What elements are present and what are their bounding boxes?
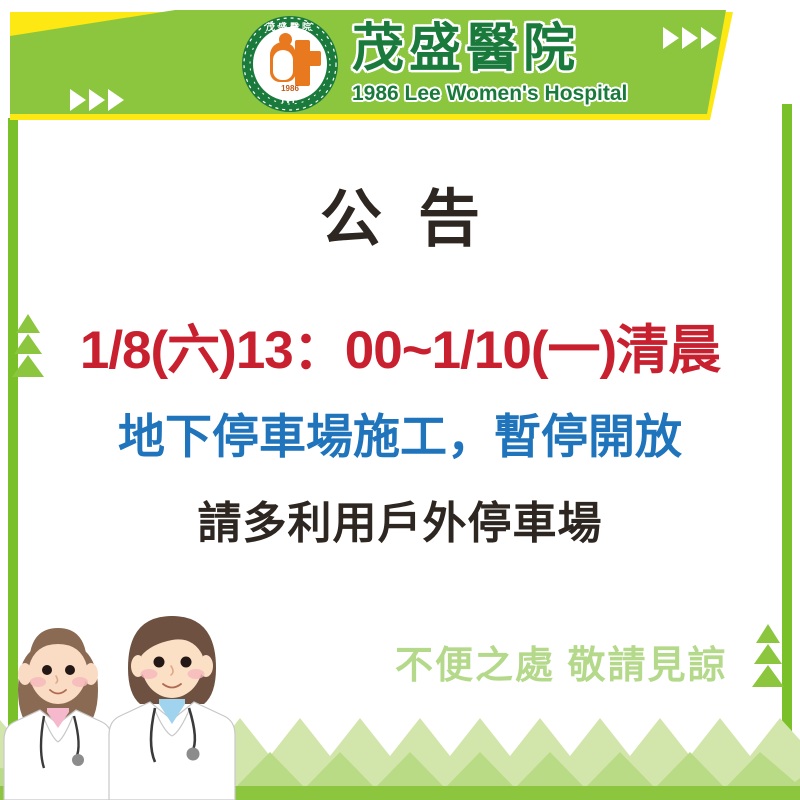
triangle-icon xyxy=(701,27,717,49)
tree-tier-icon xyxy=(756,624,780,643)
tree-icon-right xyxy=(748,622,788,694)
header-banner: 茂盛醫院 1986 IVF 茂盛醫院 1986 Lee Women's Hosp… xyxy=(0,0,800,150)
triangle-icon xyxy=(108,89,124,111)
hospital-logo-icon: 茂盛醫院 1986 IVF xyxy=(240,14,340,114)
brand-name-english: 1986 Lee Women's Hospital xyxy=(352,82,627,106)
tree-tier-icon xyxy=(752,665,784,687)
announcement-notice: 地下停車場施工，暫停開放 xyxy=(0,398,800,467)
announcement-request: 請多利用戶外停車場 xyxy=(0,487,800,551)
page-title: 公告 xyxy=(0,168,800,258)
logo-figure-inner xyxy=(273,50,293,80)
left-arrows-icon xyxy=(70,89,124,111)
female-doctor xyxy=(4,628,112,800)
announcement-datetime: 1/8(六)13：00~1/10(一)清晨 xyxy=(0,308,800,384)
triangle-icon xyxy=(70,89,86,111)
logo-top-text: 茂盛醫院 xyxy=(240,20,340,33)
tree-tier-icon xyxy=(754,644,782,664)
male-doctor xyxy=(109,616,235,800)
right-arrows-icon xyxy=(663,27,717,49)
logo-year-text: 1986 xyxy=(240,84,340,93)
brand-name-chinese: 茂盛醫院 xyxy=(352,20,580,78)
triangle-icon xyxy=(682,27,698,49)
announcement-poster: 茂盛醫院 1986 IVF 茂盛醫院 1986 Lee Women's Hosp… xyxy=(0,0,800,800)
announcement-apology: 不便之處 敬請見諒 xyxy=(395,634,728,689)
logo-head-shape xyxy=(279,33,292,46)
triangle-icon xyxy=(663,27,679,49)
doctors-illustration xyxy=(0,570,260,800)
triangle-icon xyxy=(89,89,105,111)
logo-ivf-text: IVF xyxy=(240,95,340,105)
